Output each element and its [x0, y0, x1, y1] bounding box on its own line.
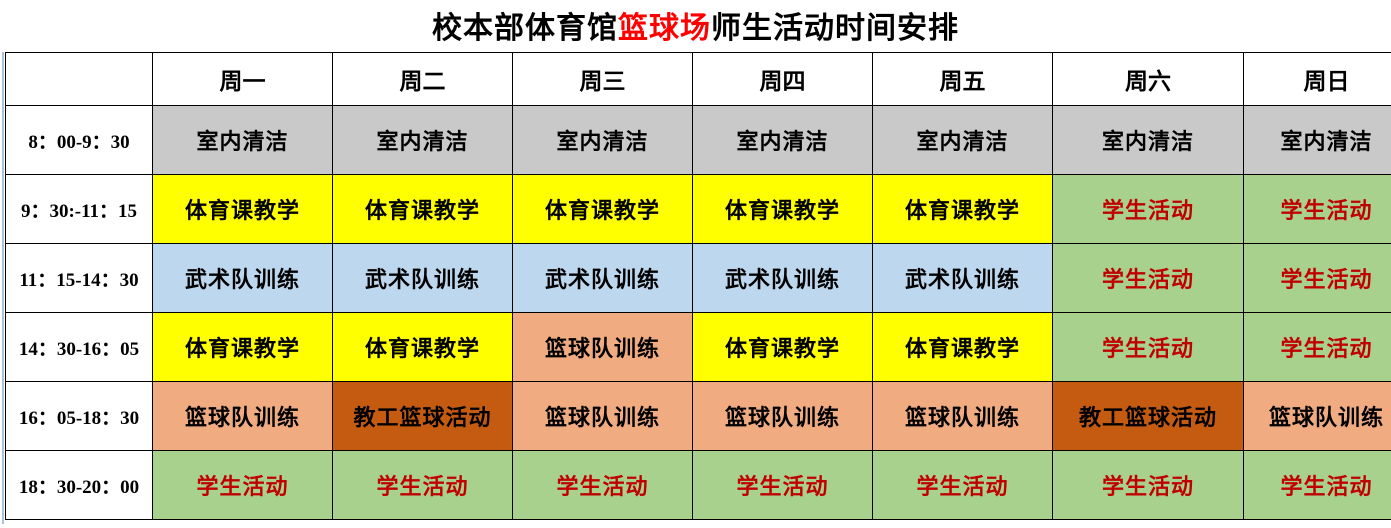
page-title: 校本部体育馆篮球场师生活动时间安排	[0, 0, 1391, 50]
table-row: 18：30-20：00 学生活动 学生活动 学生活动 学生活动 学生活动 学生活…	[6, 451, 1391, 520]
footer-strip	[0, 524, 1391, 528]
schedule-cell[interactable]: 体育课教学	[153, 175, 333, 244]
time-label: 11：15-14：30	[6, 244, 153, 313]
schedule-cell[interactable]: 篮球队训练	[513, 313, 693, 382]
schedule-cell[interactable]: 武术队训练	[153, 244, 333, 313]
schedule-cell[interactable]: 篮球队训练	[513, 382, 693, 451]
time-label: 16：05-18：30	[6, 382, 153, 451]
schedule-cell[interactable]: 室内清洁	[513, 106, 693, 175]
table-corner-cell	[6, 53, 153, 106]
table-header-row: 周一 周二 周三 周四 周五 周六 周日	[6, 53, 1391, 106]
schedule-cell[interactable]: 体育课教学	[333, 175, 513, 244]
schedule-cell[interactable]: 室内清洁	[153, 106, 333, 175]
schedule-cell[interactable]: 武术队训练	[333, 244, 513, 313]
day-header-monday: 周一	[153, 53, 333, 106]
schedule-cell[interactable]: 学生活动	[1244, 451, 1391, 520]
time-label: 8：00-9：30	[6, 106, 153, 175]
table-row: 9：30:-11：15 体育课教学 体育课教学 体育课教学 体育课教学 体育课教…	[6, 175, 1391, 244]
schedule-table: 周一 周二 周三 周四 周五 周六 周日 8：00-9：30 室内清洁 室内清洁…	[5, 52, 1391, 520]
day-header-friday: 周五	[873, 53, 1053, 106]
day-header-saturday: 周六	[1053, 53, 1244, 106]
time-label: 9：30:-11：15	[6, 175, 153, 244]
schedule-cell[interactable]: 学生活动	[513, 451, 693, 520]
schedule-page: 校本部体育馆篮球场师生活动时间安排 周一 周二 周三 周四 周五 周六 周日 8	[0, 0, 1391, 528]
schedule-cell[interactable]: 学生活动	[873, 451, 1053, 520]
schedule-cell[interactable]: 武术队训练	[873, 244, 1053, 313]
table-row: 16：05-18：30 篮球队训练 教工篮球活动 篮球队训练 篮球队训练 篮球队…	[6, 382, 1391, 451]
schedule-cell[interactable]: 室内清洁	[1244, 106, 1391, 175]
schedule-cell[interactable]: 室内清洁	[873, 106, 1053, 175]
schedule-cell[interactable]: 篮球队训练	[693, 382, 873, 451]
schedule-cell[interactable]: 体育课教学	[693, 175, 873, 244]
schedule-cell[interactable]: 篮球队训练	[153, 382, 333, 451]
schedule-cell[interactable]: 学生活动	[1053, 244, 1244, 313]
schedule-cell[interactable]: 学生活动	[1053, 451, 1244, 520]
table-row: 14：30-16：05 体育课教学 体育课教学 篮球队训练 体育课教学 体育课教…	[6, 313, 1391, 382]
title-text: 校本部体育馆篮球场师生活动时间安排	[432, 3, 959, 47]
schedule-cell[interactable]: 教工篮球活动	[1053, 382, 1244, 451]
table-row: 11：15-14：30 武术队训练 武术队训练 武术队训练 武术队训练 武术队训…	[6, 244, 1391, 313]
schedule-cell[interactable]: 篮球队训练	[873, 382, 1053, 451]
schedule-cell[interactable]: 学生活动	[333, 451, 513, 520]
schedule-cell[interactable]: 学生活动	[1053, 313, 1244, 382]
schedule-cell[interactable]: 学生活动	[153, 451, 333, 520]
table-row: 8：00-9：30 室内清洁 室内清洁 室内清洁 室内清洁 室内清洁 室内清洁 …	[6, 106, 1391, 175]
schedule-cell[interactable]: 体育课教学	[873, 175, 1053, 244]
schedule-body: 8：00-9：30 室内清洁 室内清洁 室内清洁 室内清洁 室内清洁 室内清洁 …	[6, 106, 1391, 520]
time-label: 18：30-20：00	[6, 451, 153, 520]
schedule-cell[interactable]: 学生活动	[1053, 175, 1244, 244]
day-header-thursday: 周四	[693, 53, 873, 106]
schedule-cell[interactable]: 体育课教学	[333, 313, 513, 382]
schedule-cell[interactable]: 室内清洁	[1053, 106, 1244, 175]
schedule-cell[interactable]: 教工篮球活动	[333, 382, 513, 451]
schedule-cell[interactable]: 学生活动	[1244, 313, 1391, 382]
day-header-tuesday: 周二	[333, 53, 513, 106]
title-highlight: 篮球场	[618, 12, 711, 45]
schedule-cell[interactable]: 体育课教学	[873, 313, 1053, 382]
schedule-cell[interactable]: 学生活动	[693, 451, 873, 520]
schedule-cell[interactable]: 武术队训练	[693, 244, 873, 313]
time-label: 14：30-16：05	[6, 313, 153, 382]
schedule-cell[interactable]: 武术队训练	[513, 244, 693, 313]
title-prefix: 校本部体育馆	[432, 12, 618, 45]
schedule-cell[interactable]: 体育课教学	[693, 313, 873, 382]
spreadsheet-left-gridline	[2, 52, 4, 528]
schedule-cell[interactable]: 室内清洁	[693, 106, 873, 175]
schedule-cell[interactable]: 篮球队训练	[1244, 382, 1391, 451]
schedule-cell[interactable]: 学生活动	[1244, 175, 1391, 244]
schedule-cell[interactable]: 体育课教学	[153, 313, 333, 382]
title-suffix: 师生活动时间安排	[711, 12, 959, 45]
schedule-cell[interactable]: 室内清洁	[333, 106, 513, 175]
day-header-sunday: 周日	[1244, 53, 1391, 106]
schedule-cell[interactable]: 体育课教学	[513, 175, 693, 244]
day-header-wednesday: 周三	[513, 53, 693, 106]
schedule-cell[interactable]: 学生活动	[1244, 244, 1391, 313]
